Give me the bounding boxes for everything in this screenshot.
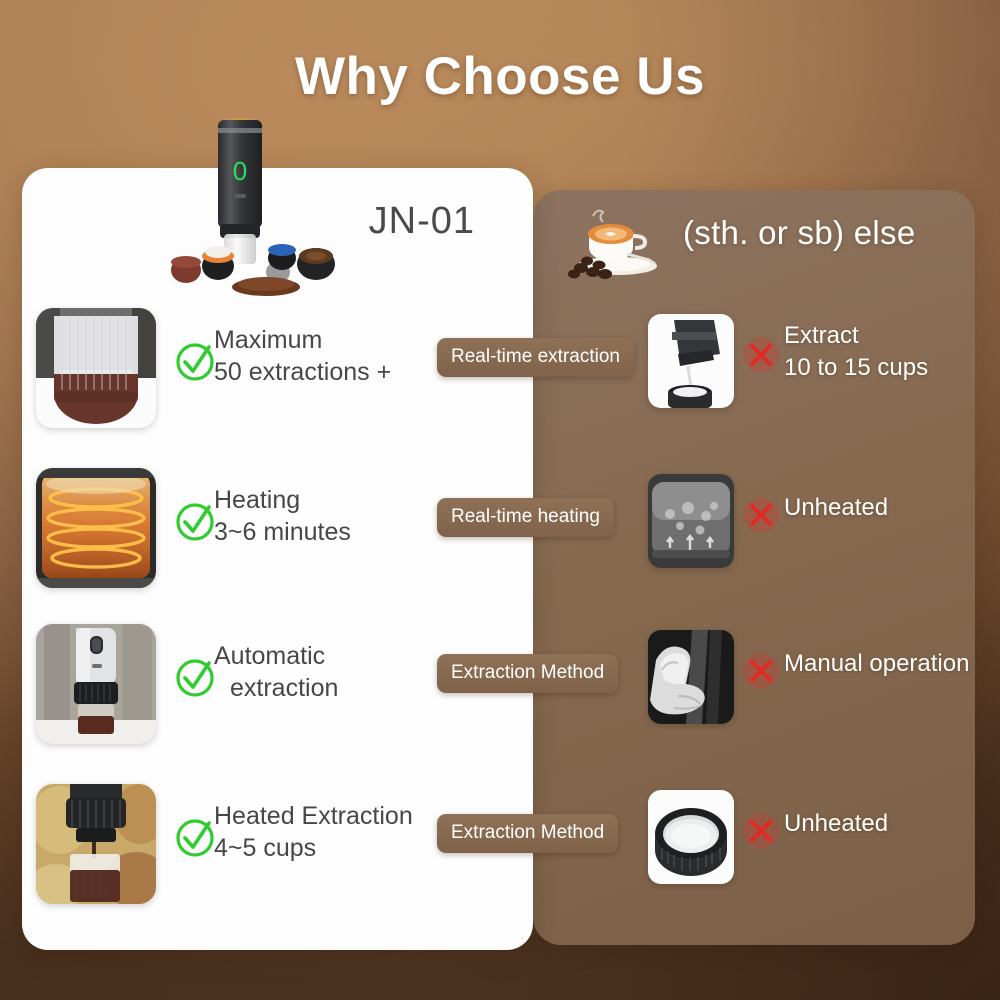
comparison-row: Automatic extraction Extraction Method M… <box>0 618 1000 750</box>
feature-line-2: 4~5 cups <box>214 832 464 864</box>
comparison-badge: Extraction Method <box>437 654 618 693</box>
cross-circle-icon <box>742 812 780 850</box>
product-header: 0 JN-01 <box>22 168 533 300</box>
thumb-auto-brewing <box>36 624 156 744</box>
comparison-badge: Extraction Method <box>437 814 618 853</box>
check-circle-icon <box>174 340 218 384</box>
thumb-hot-dispensing <box>36 784 156 904</box>
competitor-feature-text: Extract 10 to 15 cups <box>784 320 1000 384</box>
thumb-cold-water <box>648 474 734 568</box>
comparison-row: Heating 3~6 minutes Real-time heating Un… <box>0 462 1000 594</box>
thumb-hand-press <box>648 630 734 724</box>
product-feature-text: Maximum 50 extractions + <box>214 324 444 388</box>
competitor-feature-text: Manual operation <box>784 648 1000 680</box>
product-feature-text: Heating 3~6 minutes <box>214 484 444 548</box>
feature-line-1: Maximum <box>214 324 444 356</box>
competitor-header: (sth. or sb) else <box>533 190 975 300</box>
svg-text:0: 0 <box>233 156 247 186</box>
product-name-label: JN-01 <box>369 200 475 243</box>
competitor-feature-text: Unheated <box>784 492 1000 524</box>
feature-line-2: extraction <box>214 672 444 704</box>
feature-line-1: Heating <box>214 484 444 516</box>
check-circle-icon <box>174 816 218 860</box>
feature-line-2: 10 to 15 cups <box>784 352 1000 384</box>
portable-espresso-machine-icon: 0 <box>170 106 370 296</box>
page-title: Why Choose Us <box>0 46 1000 107</box>
feature-line-2: 3~6 minutes <box>214 516 444 548</box>
feature-line-1: Heated Extraction <box>214 800 464 832</box>
cross-circle-icon <box>742 652 780 690</box>
competitor-feature-text: Unheated <box>784 808 1000 840</box>
product-feature-text: Heated Extraction 4~5 cups <box>214 800 464 864</box>
feature-line-1: Manual operation <box>784 648 1000 680</box>
feature-line-1: Extract <box>784 320 1000 352</box>
thumb-heating-coil <box>36 468 156 588</box>
check-circle-icon <box>174 656 218 700</box>
product-feature-text: Automatic extraction <box>214 640 444 704</box>
thumb-coffee-extraction <box>36 308 156 428</box>
latte-cup-icon <box>565 202 673 282</box>
comparison-row: Maximum 50 extractions + Real-time extra… <box>0 302 1000 434</box>
cross-circle-icon <box>742 496 780 534</box>
feature-line-1: Automatic <box>214 640 444 672</box>
thumb-filter-basket <box>648 790 734 884</box>
feature-line-2: 50 extractions + <box>214 356 444 388</box>
comparison-badge: Real-time extraction <box>437 338 634 377</box>
cross-circle-icon <box>742 336 780 374</box>
thumb-manual-press <box>648 314 734 408</box>
comparison-badge: Real-time heating <box>437 498 614 537</box>
comparison-row: Heated Extraction 4~5 cups Extraction Me… <box>0 778 1000 910</box>
feature-line-1: Unheated <box>784 492 1000 524</box>
feature-line-1: Unheated <box>784 808 1000 840</box>
competitor-label: (sth. or sb) else <box>683 214 916 252</box>
check-circle-icon <box>174 500 218 544</box>
